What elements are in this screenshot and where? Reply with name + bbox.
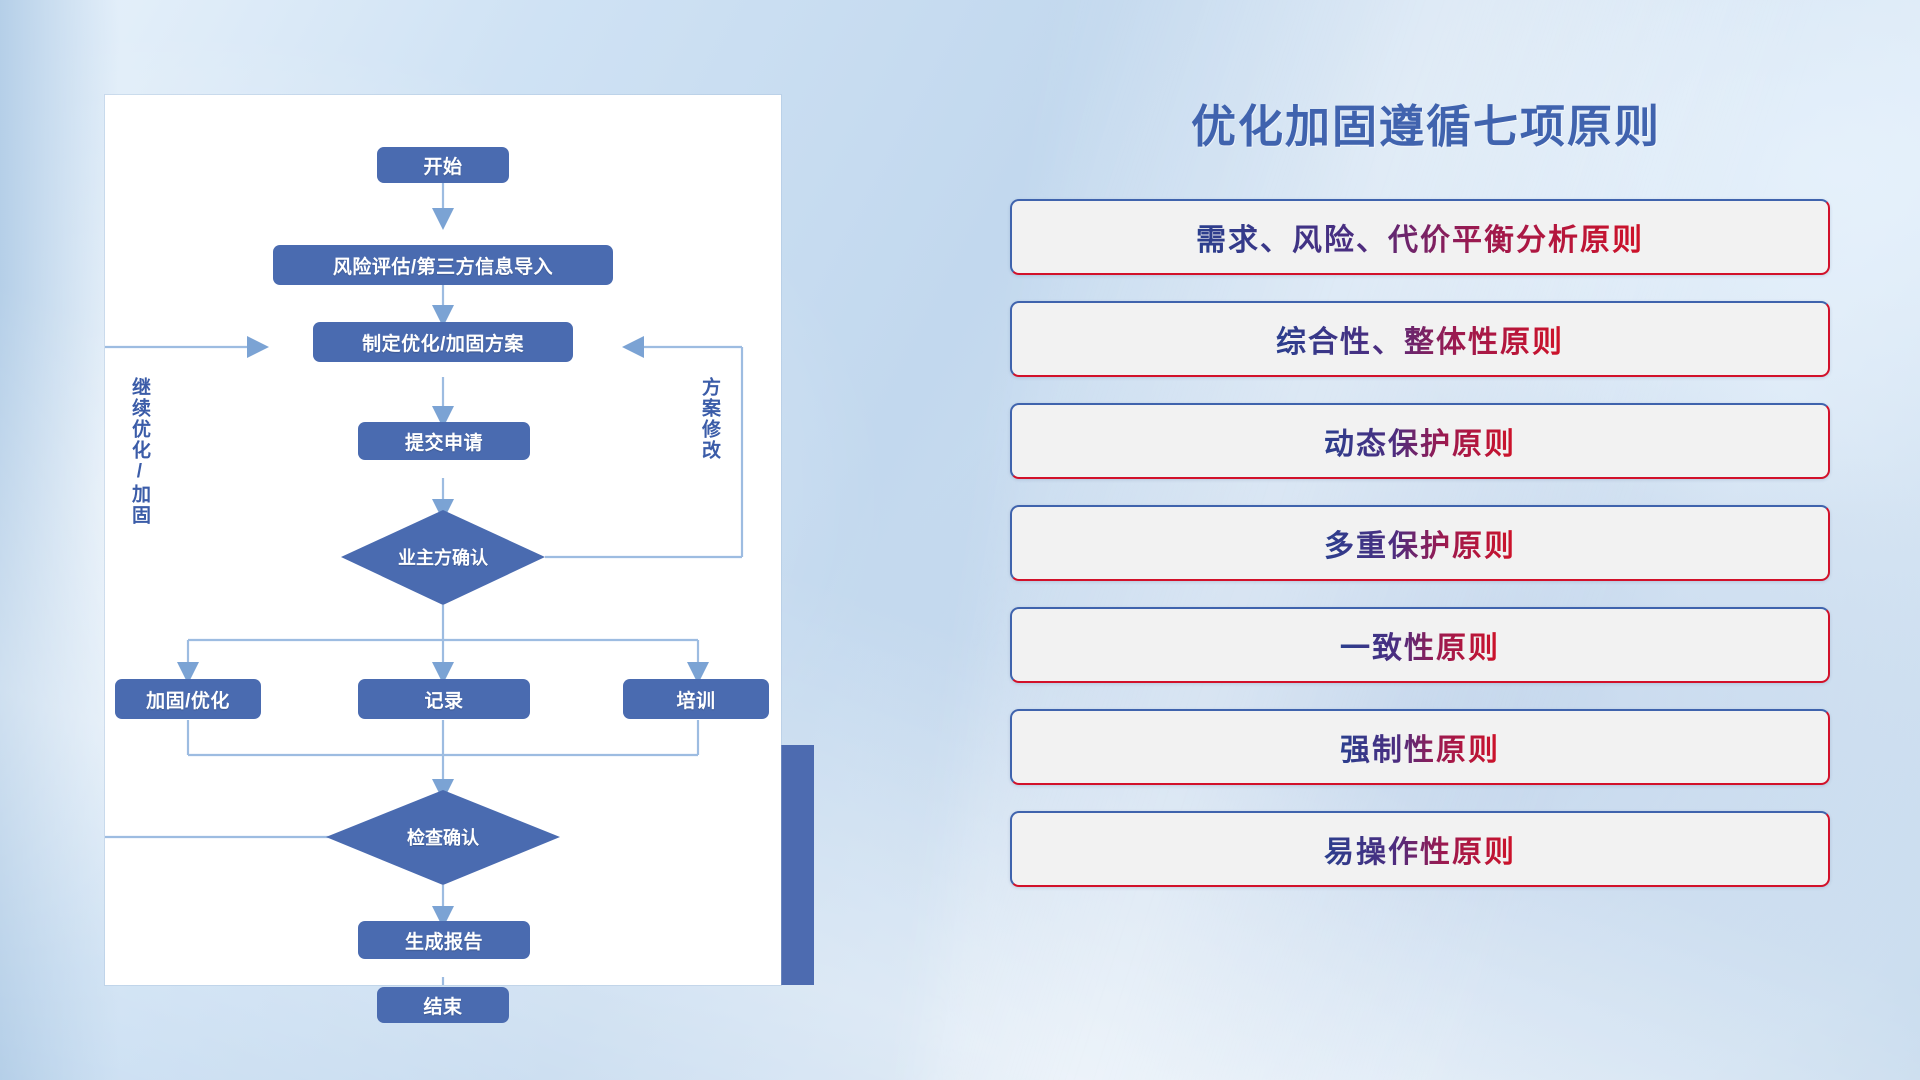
principle-card[interactable]: 多重保护原则	[1010, 505, 1830, 581]
flow-node-label: 记录	[424, 686, 463, 713]
flow-node-submit-application[interactable]: 提交申请	[358, 422, 530, 460]
flow-node-training[interactable]: 培训	[623, 679, 769, 719]
flow-node-reinforce-optimize[interactable]: 加固/优化	[115, 679, 261, 719]
flowchart: 开始 风险评估/第三方信息导入 制定优化/加固方案 提交申请 业主方确认 加固/…	[105, 95, 781, 985]
principle-card[interactable]: 综合性、整体性原则	[1010, 301, 1830, 377]
principle-card[interactable]: 强制性原则	[1010, 709, 1830, 785]
flow-node-label: 制定优化/加固方案	[362, 329, 524, 356]
flow-node-label: 加固/优化	[146, 686, 230, 713]
flow-node-make-plan[interactable]: 制定优化/加固方案	[313, 322, 573, 362]
flow-node-risk-assessment[interactable]: 风险评估/第三方信息导入	[273, 245, 613, 285]
flowchart-canvas: 开始 风险评估/第三方信息导入 制定优化/加固方案 提交申请 业主方确认 加固/…	[105, 95, 781, 985]
principle-card[interactable]: 需求、风险、代价平衡分析原则	[1010, 199, 1830, 275]
principle-card[interactable]: 易操作性原则	[1010, 811, 1830, 887]
flow-node-label: 检查确认	[407, 824, 479, 850]
flow-node-generate-report[interactable]: 生成报告	[358, 921, 530, 959]
decision-owner-confirm-label: 业主方确认	[341, 535, 545, 579]
principle-label: 一致性原则	[1340, 623, 1500, 667]
flow-node-record[interactable]: 记录	[358, 679, 530, 719]
flow-node-label: 开始	[423, 152, 462, 179]
principle-card[interactable]: 一致性原则	[1010, 607, 1830, 683]
principle-card[interactable]: 动态保护原则	[1010, 403, 1830, 479]
flow-node-label: 风险评估/第三方信息导入	[333, 252, 553, 279]
flow-node-label: 生成报告	[405, 927, 483, 954]
principle-label: 需求、风险、代价平衡分析原则	[1196, 215, 1644, 259]
flow-node-label: 培训	[676, 686, 715, 713]
flow-node-start[interactable]: 开始	[377, 147, 509, 183]
principles-panel: 优化加固遵循七项原则 需求、风险、代价平衡分析原则 综合性、整体性原则 动态保护…	[1010, 90, 1830, 913]
page-title: 优化加固遵循七项原则	[1010, 90, 1830, 155]
flow-node-label: 业主方确认	[398, 544, 488, 570]
principle-label: 多重保护原则	[1324, 521, 1516, 565]
principle-label: 强制性原则	[1340, 725, 1500, 769]
loop-label-plan-revision: 方案修改	[699, 377, 719, 461]
flow-node-label: 提交申请	[405, 428, 483, 455]
principle-label: 综合性、整体性原则	[1276, 317, 1564, 361]
flow-node-end[interactable]: 结束	[377, 987, 509, 1023]
flow-node-label: 结束	[423, 992, 462, 1019]
decision-check-confirm-label: 检查确认	[326, 815, 560, 859]
loop-label-continue-optimize: 继续优化/加固	[129, 377, 149, 526]
principle-label: 动态保护原则	[1324, 419, 1516, 463]
principle-label: 易操作性原则	[1324, 827, 1516, 871]
